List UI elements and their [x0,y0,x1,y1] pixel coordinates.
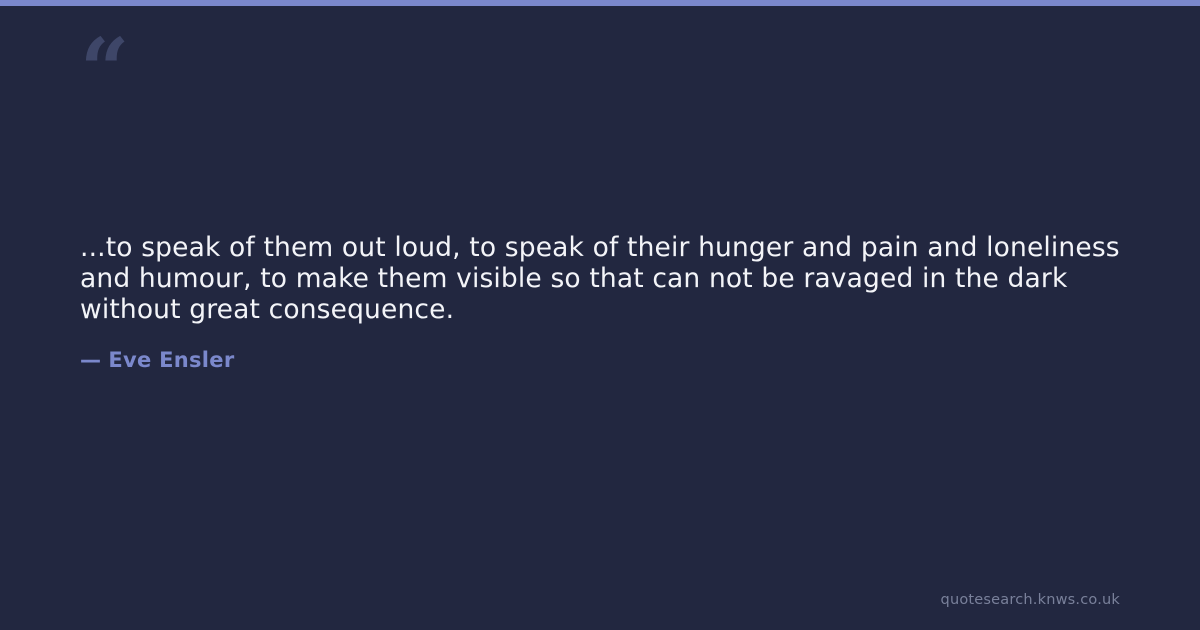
site-watermark: quotesearch.knws.co.uk [941,592,1120,608]
quote-body: ...to speak of them out loud, to speak o… [80,232,1130,325]
attribution: —Eve Ensler [80,348,235,372]
attribution-author: Eve Ensler [108,348,234,372]
quote-card: “ ...to speak of them out loud, to speak… [0,0,1200,630]
quote-text: ...to speak of them out loud, to speak o… [80,232,1130,325]
quote-mark-icon: “ [80,28,127,114]
attribution-dash: — [80,348,101,372]
top-accent-bar [0,0,1200,6]
